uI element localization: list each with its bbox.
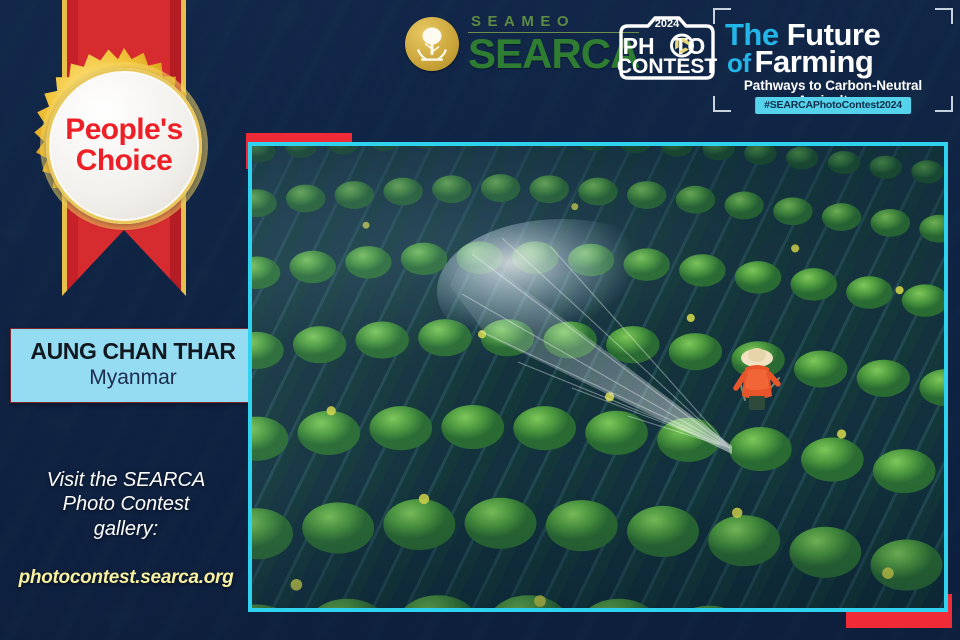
badge-text-line1: People's xyxy=(65,115,182,146)
gallery-callout: Visit the SEARCA Photo Contest gallery: … xyxy=(12,468,240,589)
award-poster: SEAMEO SEARCA 2024 PH TO CONTEST xyxy=(0,0,960,640)
peoples-choice-badge: People's Choice xyxy=(24,46,224,246)
tree-emblem-icon xyxy=(405,17,459,71)
seameo-tree-seal-icon xyxy=(405,17,459,71)
photo-contest-logo: 2024 PH TO CONTEST xyxy=(617,13,717,83)
contest-label: CONTEST xyxy=(617,55,717,78)
winner-country: Myanmar xyxy=(17,365,249,390)
future-of-farming-block: The Future of Farming Pathways to Carbon… xyxy=(713,8,953,112)
badge-text-line2: Choice xyxy=(76,146,172,177)
gallery-line-3: gallery: xyxy=(12,517,240,541)
winner-nameplate: AUNG CHAN THAR Myanmar xyxy=(10,328,256,403)
future-of-word: of xyxy=(727,50,751,76)
winner-name: AUNG CHAN THAR xyxy=(17,339,249,363)
gallery-url-link[interactable]: photocontest.searca.org xyxy=(12,567,240,589)
searca-wordmark: SEARCA xyxy=(468,34,639,74)
winning-photo-frame xyxy=(248,142,948,612)
gallery-line-2: Photo Contest xyxy=(12,492,240,516)
future-headline-line2: of Farming xyxy=(727,46,873,77)
winning-photo xyxy=(252,146,944,608)
camera-outline-icon: 2024 PH TO CONTEST xyxy=(617,13,717,83)
seameo-searca-logo: SEAMEO SEARCA xyxy=(405,14,639,74)
hashtag-badge: #SEARCAPhotoContest2024 xyxy=(755,97,911,114)
future-farming-word: Farming xyxy=(755,46,874,77)
badge-face: People's Choice xyxy=(46,68,202,224)
camera-year-label: 2024 xyxy=(655,18,680,30)
gallery-line-1: Visit the SEARCA xyxy=(12,468,240,492)
bracket-top-right-icon xyxy=(935,8,953,24)
